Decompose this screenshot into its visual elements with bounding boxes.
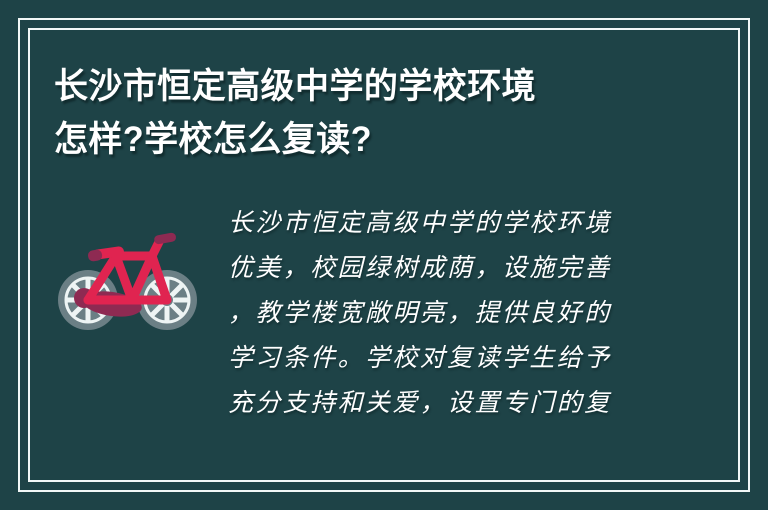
body-line: ，教学楼宽敞明亮，提供良好的 — [228, 290, 728, 335]
body-line: 充分支持和关爱，设置专门的复 — [228, 380, 728, 425]
page-title-line-2: 怎样?学校怎么复读? — [54, 113, 636, 166]
body-line: 优美，校园绿树成荫，设施完善 — [228, 245, 728, 290]
body-line: 学习条件。学校对复读学生给予 — [228, 335, 728, 380]
bicycle-icon — [54, 218, 204, 348]
body-line: 长沙市恒定高级中学的学校环境 — [228, 200, 728, 245]
page-title-line-1: 长沙市恒定高级中学的学校环境 — [54, 60, 636, 113]
body-paragraph: 长沙市恒定高级中学的学校环境 优美，校园绿树成荫，设施完善 ，教学楼宽敞明亮，提… — [228, 200, 728, 425]
page-title: 长沙市恒定高级中学的学校环境 怎样?学校怎么复读? — [54, 60, 654, 166]
bicycle-handlebar — [153, 232, 176, 245]
content-row: 长沙市恒定高级中学的学校环境 优美，校园绿树成荫，设施完善 ，教学楼宽敞明亮，提… — [54, 200, 728, 425]
poster-canvas: 长沙市恒定高级中学的学校环境 怎样?学校怎么复读? — [0, 0, 768, 510]
